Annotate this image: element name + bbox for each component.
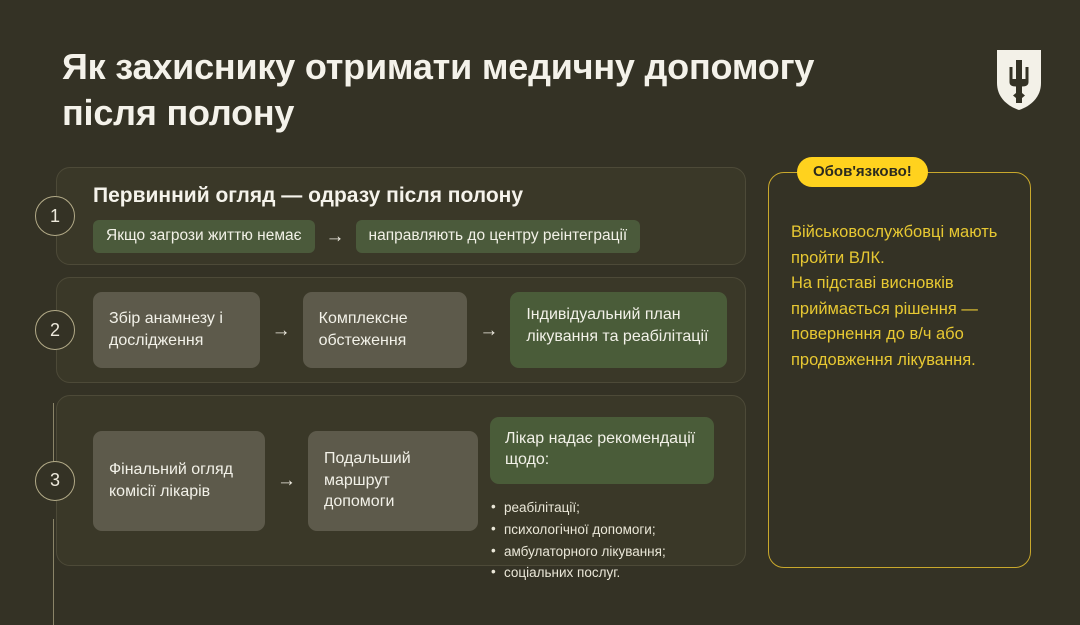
step-1-number: 1: [35, 196, 75, 236]
step-3-recommendations: Лікар надає рекомендації щодо: реабіліта…: [490, 417, 714, 584]
step-connector-2-3: [53, 519, 54, 625]
arrow-right-icon: →: [277, 471, 296, 490]
step-1-content: Первинний огляд — одразу після полону Як…: [57, 168, 745, 264]
step-3-card-further-route[interactable]: Подальший маршрут допомоги: [308, 431, 478, 531]
arrow-right-icon: →: [326, 227, 345, 246]
arrow-right-icon: →: [272, 321, 291, 340]
ukraine-ministry-of-defence-shield-trident-icon: [996, 49, 1042, 111]
step-2-content: Збір анамнезу і дослідження → Комплексне…: [57, 278, 745, 382]
step-1-pill-row: Якщо загрози життю немає → направляють д…: [93, 220, 727, 253]
step-3-recommendations-heading: Лікар надає рекомендації щодо:: [490, 417, 714, 484]
step-1-pill-result[interactable]: направляють до центру реінтеграції: [356, 220, 641, 253]
step-2-number: 2: [35, 310, 75, 350]
header: Як захиснику отримати медичну допомогу п…: [62, 44, 822, 136]
list-item: психологічної допомоги;: [504, 519, 714, 541]
step-1-container[interactable]: 1 Первинний огляд — одразу після полону …: [56, 167, 746, 265]
step-1-title: Первинний огляд — одразу після полону: [93, 184, 727, 208]
step-3-content: Фінальний огляд комісії лікарів → Подаль…: [57, 396, 745, 565]
list-item: соціальних послуг.: [504, 562, 714, 584]
step-2-card-anamnesis[interactable]: Збір анамнезу і дослідження: [93, 292, 260, 368]
steps-flow: 1 Первинний огляд — одразу після полону …: [56, 167, 746, 578]
list-item: амбулаторного лікування;: [504, 541, 714, 563]
step-3-number: 3: [35, 461, 75, 501]
status-badge: Обов'язково!: [797, 157, 928, 187]
step-connector-1-2: [53, 403, 54, 463]
step-3-container[interactable]: 3 Фінальний огляд комісії лікарів → Пода…: [56, 395, 746, 566]
page-title: Як захиснику отримати медичну допомогу п…: [62, 44, 822, 136]
mandatory-note-text: Військовослужбовці мають пройти ВЛК. На …: [769, 173, 1030, 373]
mandatory-note-panel: Обов'язково! Військовослужбовці мають пр…: [768, 172, 1031, 568]
step-2-flow: Збір анамнезу і дослідження → Комплексне…: [93, 292, 727, 368]
step-3-flow: Фінальний огляд комісії лікарів → Подаль…: [93, 410, 727, 551]
step-3-recommendations-list: реабілітації; психологічної допомоги; ам…: [490, 497, 714, 584]
arrow-right-icon: →: [479, 321, 498, 340]
step-2-card-examination[interactable]: Комплексне обстеження: [303, 292, 468, 368]
step-3-card-final-review[interactable]: Фінальний огляд комісії лікарів: [93, 431, 265, 531]
step-1-pill-condition[interactable]: Якщо загрози життю немає: [93, 220, 315, 253]
step-2-container[interactable]: 2 Збір анамнезу і дослідження → Комплекс…: [56, 277, 746, 383]
step-2-card-treatment-plan[interactable]: Індивідуальний план лікування та реабілі…: [510, 292, 727, 368]
list-item: реабілітації;: [504, 497, 714, 519]
